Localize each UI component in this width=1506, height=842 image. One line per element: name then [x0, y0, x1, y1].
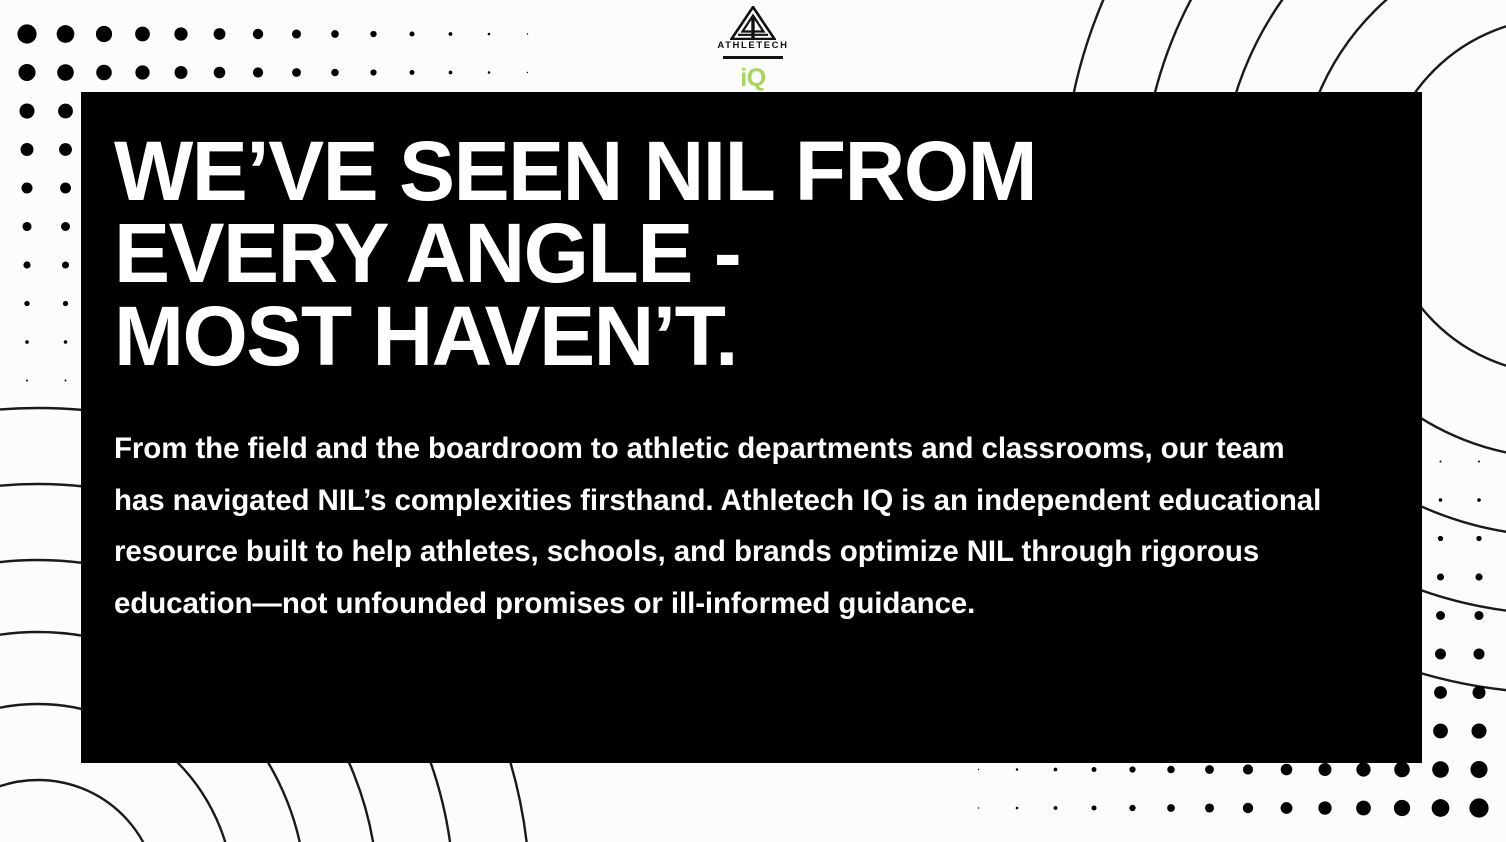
- athletech-triangle-mark-icon: [730, 6, 776, 40]
- page-title: WE’VE SEEN NIL FROM EVERY ANGLE - MOST H…: [114, 130, 1378, 377]
- logo-iq-wordmark: iQ: [740, 66, 765, 91]
- content-panel: WE’VE SEEN NIL FROM EVERY ANGLE - MOST H…: [81, 92, 1422, 763]
- body-paragraph: From the field and the boardroom to athl…: [114, 423, 1329, 630]
- logo-wordmark: ATHLETECH: [717, 41, 788, 51]
- slide-canvas: ATHLETECH iQ WE’VE SEEN NIL FROM EVERY A…: [0, 0, 1506, 842]
- logo-divider-rule: [723, 56, 783, 59]
- logo-lockup: ATHLETECH iQ: [0, 6, 1506, 91]
